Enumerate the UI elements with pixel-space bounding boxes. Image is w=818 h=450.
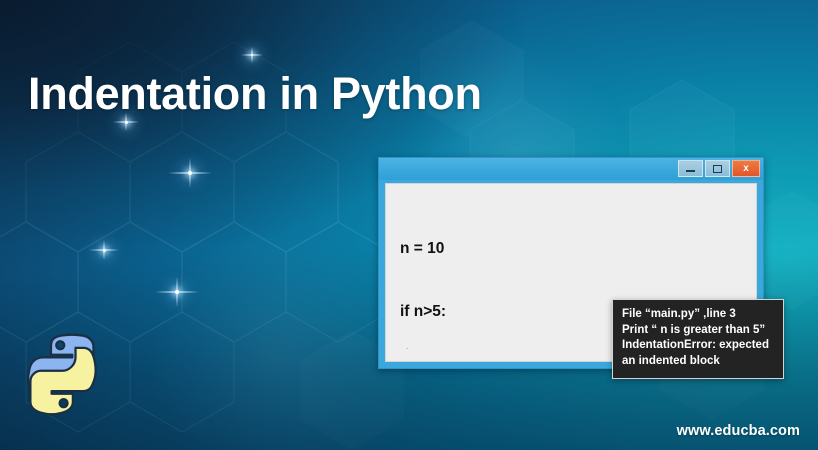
stray-mark: . bbox=[406, 342, 409, 351]
error-line: an indented block bbox=[622, 354, 774, 370]
minimize-button[interactable] bbox=[678, 160, 703, 177]
error-line: File “main.py” ,line 3 bbox=[622, 307, 774, 323]
watermark: www.educba.com bbox=[677, 423, 800, 439]
python-logo bbox=[17, 331, 112, 427]
code-line: n = 10 bbox=[400, 238, 756, 259]
minimize-icon bbox=[686, 170, 695, 172]
close-icon: x bbox=[743, 164, 749, 174]
error-line: Print “ n is greater than 5” bbox=[622, 323, 774, 339]
window-controls: x bbox=[678, 160, 760, 177]
close-button[interactable]: x bbox=[732, 160, 760, 177]
slide-canvas: Indentation in Python x bbox=[0, 0, 818, 450]
error-line: IndentationError: expected bbox=[622, 338, 774, 354]
error-tooltip: File “main.py” ,line 3 Print “ n is grea… bbox=[612, 299, 784, 379]
window-titlebar[interactable]: x bbox=[379, 158, 763, 180]
maximize-button[interactable] bbox=[705, 160, 730, 177]
maximize-icon bbox=[713, 165, 722, 173]
page-title: Indentation in Python bbox=[28, 70, 482, 119]
